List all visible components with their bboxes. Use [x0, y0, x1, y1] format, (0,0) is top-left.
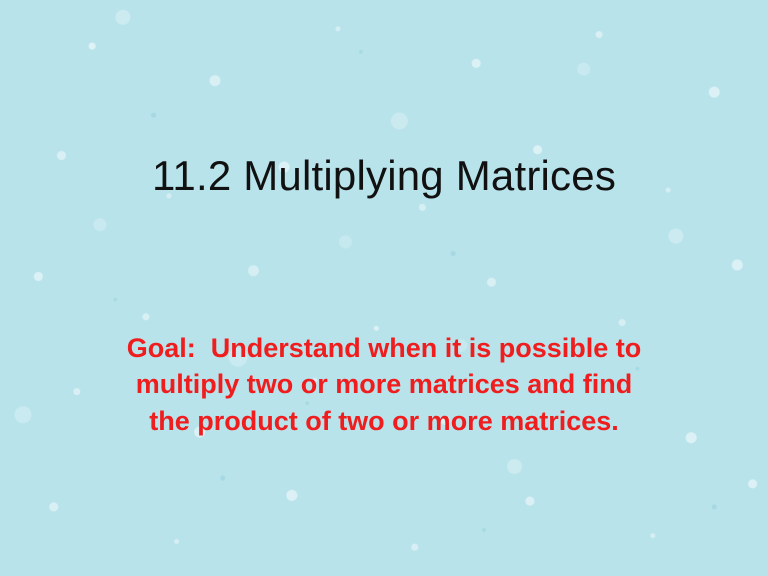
goal-line-2: multiply two or more matrices and find	[64, 366, 704, 402]
goal-line-3: the product of two or more matrices.	[64, 403, 704, 439]
slide-goal-text: Goal: Understand when it is possible to …	[64, 330, 704, 439]
presentation-slide: 11.2 Multiplying Matrices Goal: Understa…	[0, 0, 768, 576]
slide-content: 11.2 Multiplying Matrices Goal: Understa…	[0, 0, 768, 576]
goal-line-1: Goal: Understand when it is possible to	[64, 330, 704, 366]
slide-title: 11.2 Multiplying Matrices	[0, 152, 768, 200]
